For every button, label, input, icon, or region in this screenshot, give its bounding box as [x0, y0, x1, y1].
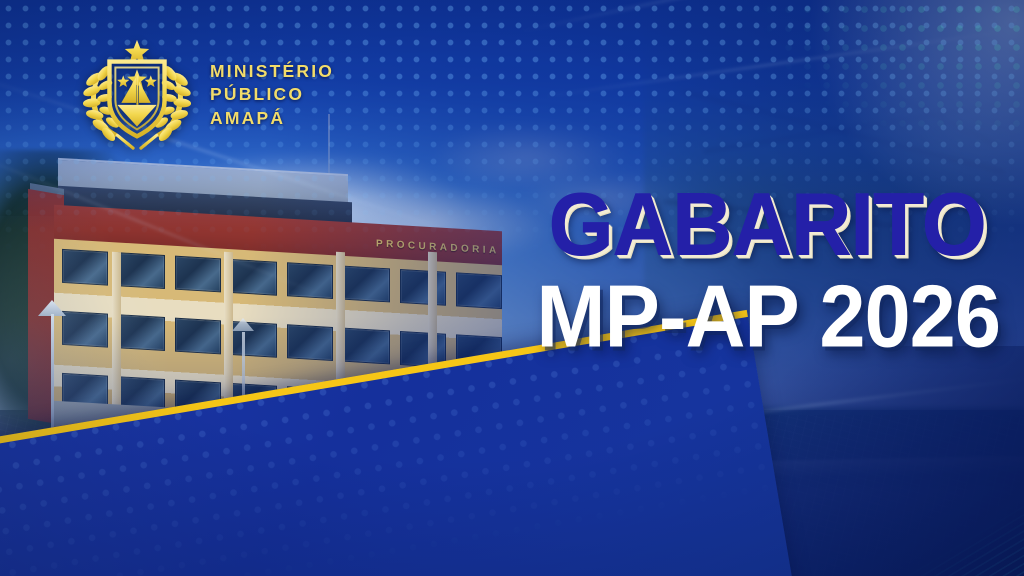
gabarito-mp-ap-banner: PROCURADORIA	[0, 0, 1024, 576]
wordmark-line-1: MINISTÉRIO	[210, 60, 334, 83]
wordmark-line-3: AMAPÁ	[210, 107, 334, 130]
mp-amapa-logo: MINISTÉRIO PÚBLICO AMAPÁ	[78, 36, 334, 154]
headline-line-gabarito: GABARITO	[420, 183, 1000, 266]
mp-amapa-wordmark: MINISTÉRIO PÚBLICO AMAPÁ	[210, 60, 334, 130]
mp-amapa-crest-icon	[78, 36, 196, 154]
sailboat-mast	[136, 75, 138, 105]
headline-block: GABARITO MP-AP 2026	[420, 188, 1000, 358]
sailboat-hull	[117, 105, 156, 127]
wordmark-line-2: PÚBLICO	[210, 83, 334, 106]
shield-left-star	[117, 75, 129, 87]
shield-right-star	[145, 75, 157, 87]
headline-line-mp-ap-2026: MP-AP 2026	[420, 275, 1000, 358]
